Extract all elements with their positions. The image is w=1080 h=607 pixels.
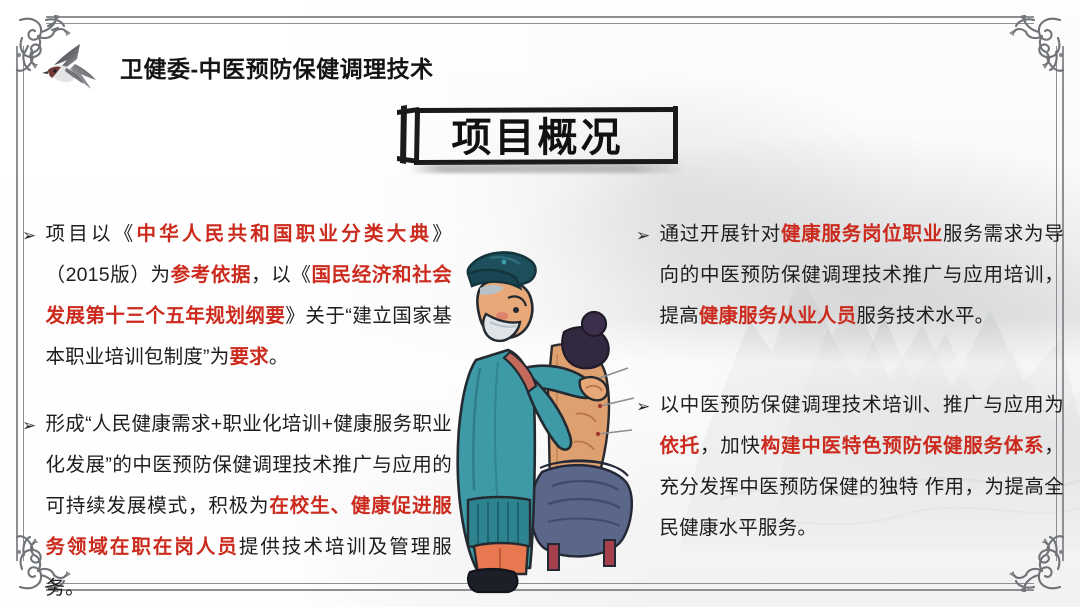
bullet-marker-icon: ➢ xyxy=(636,386,650,427)
bullet-item: ➢ 通过开展针对健康服务岗位职业服务需求为导向的中医预防保健调理技术推广与应用培… xyxy=(636,214,1064,337)
bullet-text-system: 以中医预防保健调理技术培训、推广与应用为依托，加快构建中医特色预防保健服务体系，… xyxy=(659,385,1064,549)
slide-header: 卫健委-中医预防保健调理技术 xyxy=(36,40,434,94)
bullet-column-right: ➢ 通过开展针对健康服务岗位职业服务需求为导向的中医预防保健调理技术推广与应用培… xyxy=(636,214,1064,549)
bullet-marker-icon: ➢ xyxy=(22,215,36,256)
swallow-bird-icon xyxy=(36,40,112,94)
slide-root: 卫健委-中医预防保健调理技术 项目概况 xyxy=(0,0,1080,607)
bullet-item: ➢ 项目以《中华人民共和国职业分类大典》（2015版）为参考依据，以《国民经济和… xyxy=(22,214,452,378)
bullet-text-basis: 项目以《中华人民共和国职业分类大典》（2015版）为参考依据，以《国民经济和社会… xyxy=(45,214,452,378)
bullet-marker-icon: ➢ xyxy=(636,215,650,256)
header-title: 卫健委-中医预防保健调理技术 xyxy=(120,50,434,84)
tcm-acupuncture-illustration xyxy=(424,228,672,600)
bullet-marker-icon: ➢ xyxy=(22,405,36,446)
bullet-item: ➢ 以中医预防保健调理技术培训、推广与应用为依托，加快构建中医特色预防保健服务体… xyxy=(636,385,1064,549)
section-title-text: 项目概况 xyxy=(395,104,680,166)
bullet-item: ➢ 形成“人民健康需求+职业化培训+健康服务职业化发展”的中医预防保健调理技术推… xyxy=(22,404,452,607)
bullet-column-left: ➢ 项目以《中华人民共和国职业分类大典》（2015版）为参考依据，以《国民经济和… xyxy=(22,214,452,607)
bullet-text-model: 形成“人民健康需求+职业化培训+健康服务职业化发展”的中医预防保健调理技术推广与… xyxy=(45,404,452,607)
section-title-plaque: 项目概况 xyxy=(395,104,680,166)
bullet-text-training: 通过开展针对健康服务岗位职业服务需求为导向的中医预防保健调理技术推广与应用培训，… xyxy=(659,214,1064,337)
